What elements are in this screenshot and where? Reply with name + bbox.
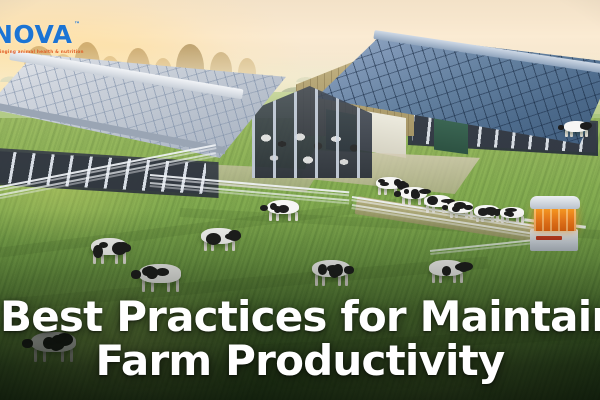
hero-banner: NOVA ™ Bringing animal health & nutritio… bbox=[0, 0, 600, 400]
trademark-icon: ™ bbox=[74, 22, 81, 28]
headline: Best Practices for Maintaining Farm Prod… bbox=[0, 295, 600, 384]
logo-wordmark-text: NOVA bbox=[0, 20, 73, 49]
nova-logo[interactable]: NOVA ™ Bringing animal health & nutritio… bbox=[0, 22, 84, 54]
headline-line-1: Best Practices for Maintaining bbox=[0, 295, 600, 340]
logo-wordmark: NOVA ™ bbox=[0, 22, 73, 47]
headline-line-2: Farm Productivity bbox=[0, 339, 600, 384]
logo-tagline: Bringing animal health & nutrition bbox=[0, 49, 84, 54]
